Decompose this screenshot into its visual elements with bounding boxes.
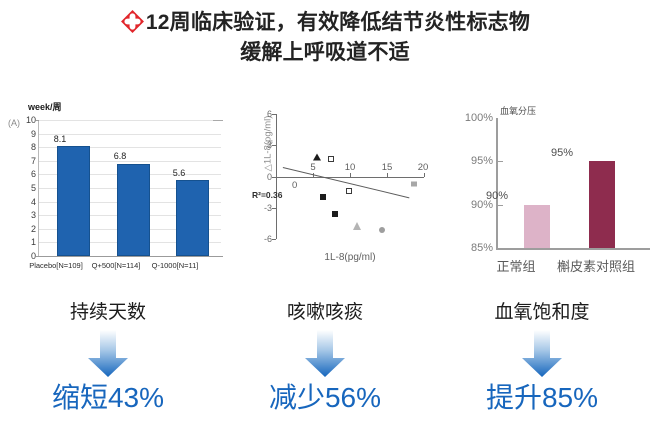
summary-value: 缩短43% bbox=[0, 380, 216, 416]
chart3-bar-quercetin bbox=[589, 161, 615, 248]
title-line-2: 缓解上呼吸道不适 bbox=[0, 38, 650, 68]
chart2-xtick: 20 bbox=[418, 162, 429, 173]
chart3-category-label: 槲皮素对照组 bbox=[546, 256, 646, 275]
title-text-1: 12周临床验证，有效降低结节炎性标志物 bbox=[146, 11, 530, 34]
chart1-value-label: 5.6 bbox=[159, 168, 199, 178]
chart2-xtick: 5 bbox=[310, 162, 315, 173]
chart2-ytick: 3 bbox=[267, 140, 272, 150]
chart3-plot-area: 100% 95% 90% 85% bbox=[496, 118, 636, 250]
chart1-ytick: 0 bbox=[31, 251, 36, 261]
chart2-point bbox=[353, 222, 361, 230]
chart3-ytick: 100% bbox=[465, 112, 493, 124]
chart2-xtick-zero: 0 bbox=[292, 180, 297, 191]
chart1-ytick: 6 bbox=[31, 169, 36, 179]
chart1-ytick: 5 bbox=[31, 183, 36, 193]
summary-label: 血氧饱和度 bbox=[434, 300, 650, 326]
summary-value: 提升85% bbox=[434, 380, 650, 416]
down-arrow-icon bbox=[304, 330, 346, 378]
chart2-ytick: -6 bbox=[264, 234, 272, 244]
chart1-bar-q500 bbox=[117, 164, 150, 257]
summary-label: 咳嗽咳痰 bbox=[217, 300, 433, 326]
slide-root: 12周临床验证，有效降低结节炎性标志物 缓解上呼吸道不适 week/周 (A) … bbox=[0, 0, 650, 446]
il8-scatter-chart: △1L-8(pg/ml) 6 3 0 -3 -6 bbox=[232, 102, 437, 288]
chart3-title: 血氧分压 bbox=[500, 104, 536, 117]
chart1-bar-q1000 bbox=[176, 180, 209, 256]
chart2-ytick: 0 bbox=[267, 172, 272, 182]
chart2-r2-text: R²=0.36 bbox=[252, 190, 282, 200]
chart1-ytick: 2 bbox=[31, 224, 36, 234]
chart1-ytick: 9 bbox=[31, 129, 36, 139]
chart2-point bbox=[346, 188, 352, 194]
chart1-value-label: 6.8 bbox=[100, 151, 140, 161]
chart1-category-label: Q-1000[N=11] bbox=[139, 261, 211, 270]
chart2-point bbox=[411, 181, 417, 186]
chart2-point bbox=[379, 227, 385, 233]
chart1-axis-flag: (A) bbox=[8, 118, 20, 128]
summary-column-cough: 咳嗽咳痰 减少56% bbox=[217, 300, 433, 416]
chart2-xtick: 10 bbox=[345, 162, 356, 173]
summary-column-duration: 持续天数 缩短43% bbox=[0, 300, 216, 416]
chart3-ytick: 85% bbox=[471, 242, 493, 254]
chart2-point bbox=[332, 211, 338, 217]
charts-row: week/周 (A) 10 9 8 7 6 5 4 3 bbox=[0, 98, 650, 298]
summary-column-oxygen: 血氧饱和度 提升85% bbox=[434, 300, 650, 416]
summary-row: 持续天数 缩短43% 咳嗽咳痰 减少56% 血氧饱和度 bbox=[0, 300, 650, 446]
chart2-point bbox=[313, 153, 321, 160]
chart1-ytick: 3 bbox=[31, 210, 36, 220]
blood-oxygen-bar-chart: 血氧分压 100% 95% 90% 85% 90% 95% 正常组 槲皮素对照组 bbox=[448, 104, 646, 292]
chart2-r-squared-annotation: R²=0.36 bbox=[252, 190, 282, 200]
duration-bar-chart: week/周 (A) 10 9 8 7 6 5 4 3 bbox=[6, 98, 228, 288]
chart3-value-label: 95% bbox=[539, 147, 585, 159]
chart3-value-label: 90% bbox=[474, 190, 520, 202]
summary-label: 持续天数 bbox=[0, 300, 216, 326]
chart3-category-label: 正常组 bbox=[486, 256, 546, 275]
chart2-point bbox=[328, 156, 334, 162]
chart1-ytick: 8 bbox=[31, 142, 36, 152]
chart2-point bbox=[320, 194, 326, 200]
chart1-unit-label: week/周 bbox=[28, 100, 62, 113]
medical-cross-icon bbox=[120, 9, 145, 34]
chart1-ytick: 7 bbox=[31, 156, 36, 166]
down-arrow-icon bbox=[521, 330, 563, 378]
chart1-ytick: 1 bbox=[31, 237, 36, 247]
down-arrow-icon bbox=[87, 330, 129, 378]
chart2-plot-area: 6 3 0 -3 -6 5 10 15 20 0 bbox=[276, 114, 424, 239]
chart1-ytick: 4 bbox=[31, 197, 36, 207]
chart1-axis-stub bbox=[213, 120, 223, 121]
chart1-bar-placebo bbox=[57, 146, 90, 256]
chart2-ytick: -3 bbox=[264, 203, 272, 213]
chart2-x-axis-title: 1L-8(pg/ml) bbox=[276, 252, 424, 263]
chart2-ytick: 6 bbox=[267, 109, 272, 119]
chart3-ytick: 95% bbox=[471, 155, 493, 167]
chart1-ytick: 10 bbox=[26, 115, 36, 125]
title-line-1: 12周临床验证，有效降低结节炎性标志物 bbox=[0, 8, 650, 38]
chart1-value-label: 8.1 bbox=[40, 134, 80, 144]
chart3-bar-normal bbox=[524, 205, 550, 248]
page-title: 12周临床验证，有效降低结节炎性标志物 缓解上呼吸道不适 bbox=[0, 8, 650, 68]
chart2-xtick: 15 bbox=[382, 162, 393, 173]
summary-value: 减少56% bbox=[217, 380, 433, 416]
